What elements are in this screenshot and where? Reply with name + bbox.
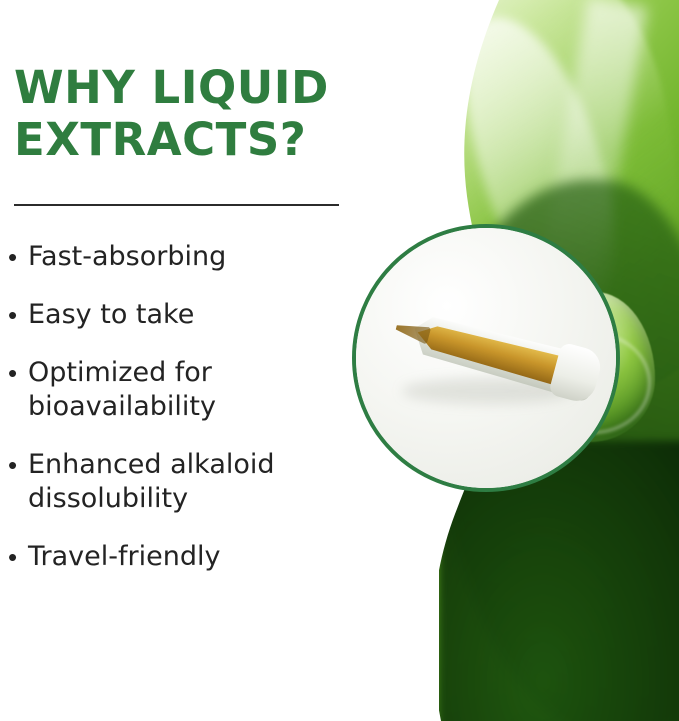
bullet-point-icon: • bbox=[8, 298, 28, 332]
benefit-label: Easy to take bbox=[28, 298, 194, 332]
bullet-point-icon: • bbox=[8, 448, 28, 482]
list-item: • Enhanced alkaloid dissolubility bbox=[8, 448, 388, 516]
list-item: • Travel-friendly bbox=[8, 540, 388, 574]
benefit-label: Enhanced alkaloid dissolubility bbox=[28, 448, 388, 516]
bullet-point-icon: • bbox=[8, 540, 28, 574]
bullet-point-icon: • bbox=[8, 356, 28, 390]
list-item: • Fast-absorbing bbox=[8, 240, 388, 274]
benefit-label: Fast-absorbing bbox=[28, 240, 226, 274]
benefits-list: • Fast-absorbing • Easy to take • Optimi… bbox=[8, 240, 388, 598]
benefit-label: Optimized for bioavailability bbox=[28, 356, 388, 424]
product-benefits-graphic: WHY LIQUID EXTRACTS? • Fast-absorbing • … bbox=[0, 0, 679, 721]
benefit-label: Travel-friendly bbox=[28, 540, 220, 574]
list-item: • Optimized for bioavailability bbox=[8, 356, 388, 424]
title-divider bbox=[14, 204, 339, 206]
list-item: • Easy to take bbox=[8, 298, 388, 332]
bullet-point-icon: • bbox=[8, 240, 28, 274]
benefits-text-column: WHY LIQUID EXTRACTS? • Fast-absorbing • … bbox=[0, 0, 400, 721]
page-title: WHY LIQUID EXTRACTS? bbox=[14, 62, 374, 166]
